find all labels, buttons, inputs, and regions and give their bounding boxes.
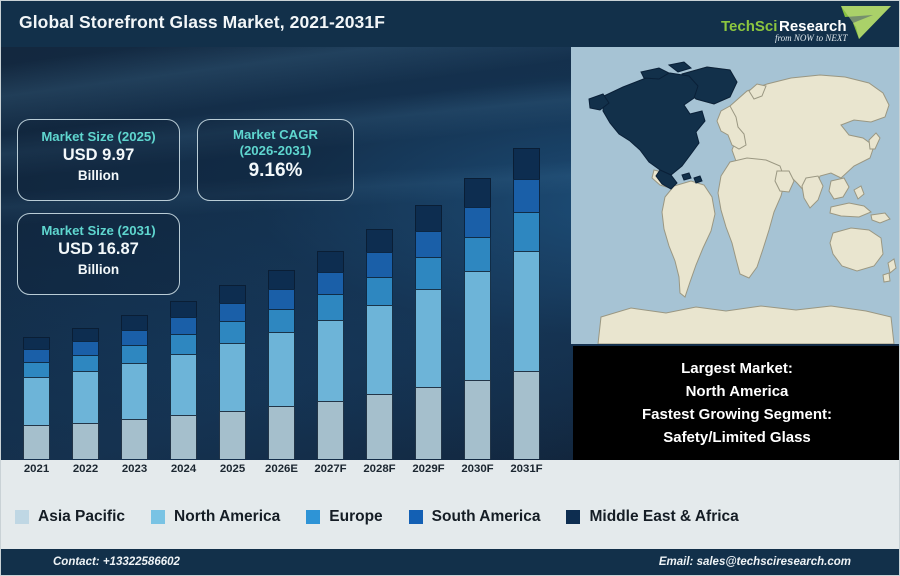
bar-segment-europe [268,309,295,332]
bar-segment-asia-pacific [170,415,197,459]
bar-segment-asia-pacific [121,419,148,459]
bar-segment-europe [170,334,197,353]
bar-segment-south-america [121,330,148,345]
logo-brand-first: TechSci [721,18,777,35]
bar-segment-europe [317,294,344,319]
legend-swatch-icon [409,510,423,524]
bar-segment-europe [513,212,540,250]
bar-segment-asia-pacific [23,425,50,459]
legend-item-asia-pacific[interactable]: Asia Pacific [15,508,125,526]
bar-2029F [415,205,442,459]
legend-swatch-icon [151,510,165,524]
legend-label: South America [432,508,541,526]
bar-2024 [170,301,197,459]
bar-segment-asia-pacific [72,423,99,459]
infographic-root: Global Storefront Glass Market, 2021-203… [0,0,900,576]
bar-segment-middle-east-africa [366,229,393,252]
x-axis-label-2027F: 2027F [306,463,355,475]
x-axis-label-2028F: 2028F [355,463,404,475]
legend-item-europe[interactable]: Europe [306,508,382,526]
bar-segment-south-america [513,179,540,212]
bar-segment-north-america [23,377,50,425]
footer-bar: Contact: +13322586602 Email: sales@techs… [1,549,900,576]
bar-segment-middle-east-africa [72,328,99,341]
bar-segment-north-america [121,363,148,419]
logo-icon: TechSci Research from NOW to NEXT [713,3,895,45]
bar-segment-north-america [170,354,197,416]
bar-2030F [464,178,491,459]
bar-segment-europe [366,277,393,305]
bar-segment-europe [121,345,148,363]
bar-segment-asia-pacific [415,387,442,459]
stat-title: Market Size (2025) [18,129,179,145]
stat-title: Market CAGR [198,127,353,143]
x-axis-label-2031F: 2031F [502,463,551,475]
logo-arrow-highlight-icon [841,6,891,39]
bar-segment-south-america [317,272,344,294]
bar-segment-south-america [366,252,393,277]
x-axis-label-2030F: 2030F [453,463,502,475]
legend-label: Middle East & Africa [589,508,738,526]
info-line-largest-market-value: North America [686,380,789,403]
bar-segment-middle-east-africa [121,315,148,330]
footer-email: Email: sales@techsciresearch.com [659,556,851,568]
world-map [571,47,900,344]
bar-segment-europe [23,362,50,377]
bar-2025 [219,285,246,459]
legend-label: Europe [329,508,382,526]
bar-segment-europe [72,355,99,371]
bar-segment-north-america [317,320,344,401]
bar-segment-middle-east-africa [317,251,344,272]
bar-segment-south-america [219,303,246,321]
bar-segment-north-america [72,371,99,423]
stat-card-market-size-2031: Market Size (2031) USD 16.87 Billion [17,213,180,295]
bar-segment-south-america [23,349,50,362]
chart-x-axis: 202120222023202420252026E2027F2028F2029F… [1,460,571,484]
bar-segment-south-america [464,207,491,237]
stat-unit: Billion [18,166,179,185]
legend-label: North America [174,508,280,526]
footer-contact: Contact: +13322586602 [53,556,180,568]
bar-segment-north-america [268,332,295,406]
bar-segment-asia-pacific [317,401,344,459]
bar-segment-middle-east-africa [23,337,50,349]
x-axis-label-2022: 2022 [61,463,110,475]
legend-swatch-icon [566,510,580,524]
bar-segment-asia-pacific [268,406,295,459]
bar-segment-asia-pacific [219,411,246,459]
bar-segment-asia-pacific [513,371,540,459]
x-axis-label-2026E: 2026E [257,463,306,475]
bar-2021 [23,337,50,459]
techsci-research-logo: TechSci Research from NOW to NEXT [713,3,895,45]
bar-segment-middle-east-africa [170,301,197,317]
info-line-fastest-segment-label: Fastest Growing Segment: [642,403,832,426]
stat-card-market-size-2025: Market Size (2025) USD 9.97 Billion [17,119,180,201]
legend-label: Asia Pacific [38,508,125,526]
info-line-fastest-segment-value: Safety/Limited Glass [663,426,811,449]
legend-item-north-america[interactable]: North America [151,508,280,526]
x-axis-label-2023: 2023 [110,463,159,475]
x-axis-label-2024: 2024 [159,463,208,475]
bar-2028F [366,229,393,459]
stat-subtitle: (2026-2031) [198,143,353,159]
bar-2026E [268,270,295,459]
logo-tagline: from NOW to NEXT [775,33,848,43]
bar-2022 [72,328,99,459]
stat-value: 9.16% [198,159,353,183]
bar-segment-europe [464,237,491,272]
bar-segment-middle-east-africa [219,285,246,303]
chart-legend: Asia PacificNorth AmericaEuropeSouth Ame… [1,484,900,549]
bar-segment-europe [415,257,442,289]
key-findings-box: Largest Market: North America Fastest Gr… [573,346,900,460]
legend-swatch-icon [306,510,320,524]
x-axis-label-2021: 2021 [12,463,61,475]
info-line-largest-market-label: Largest Market: [681,357,793,380]
bar-segment-north-america [464,271,491,379]
x-axis-label-2029F: 2029F [404,463,453,475]
bar-segment-asia-pacific [464,380,491,459]
bar-segment-north-america [513,251,540,371]
stat-value: USD 16.87 [18,239,179,260]
page-title: Global Storefront Glass Market, 2021-203… [19,12,385,33]
stat-value: USD 9.97 [18,145,179,166]
bar-segment-middle-east-africa [415,205,442,230]
bar-segment-middle-east-africa [464,178,491,206]
bar-segment-middle-east-africa [513,148,540,180]
bar-segment-south-america [72,341,99,355]
bar-2027F [317,251,344,459]
bar-segment-europe [219,321,246,343]
bar-segment-asia-pacific [366,394,393,459]
legend-swatch-icon [15,510,29,524]
bar-2031F [513,148,540,460]
bar-segment-north-america [415,289,442,387]
bar-segment-south-america [268,289,295,309]
bar-segment-middle-east-africa [268,270,295,289]
stat-unit: Billion [18,260,179,279]
bar-segment-north-america [366,305,393,394]
header-bar: Global Storefront Glass Market, 2021-203… [1,1,900,47]
legend-item-middle-east-africa[interactable]: Middle East & Africa [566,508,738,526]
bar-2023 [121,315,148,459]
bar-segment-south-america [170,317,197,334]
x-axis-label-2025: 2025 [208,463,257,475]
bar-segment-south-america [415,231,442,258]
stat-card-market-cagr: Market CAGR (2026-2031) 9.16% [197,119,354,201]
stat-title: Market Size (2031) [18,223,179,239]
world-map-svg [571,47,900,344]
bar-segment-north-america [219,343,246,411]
legend-item-south-america[interactable]: South America [409,508,541,526]
